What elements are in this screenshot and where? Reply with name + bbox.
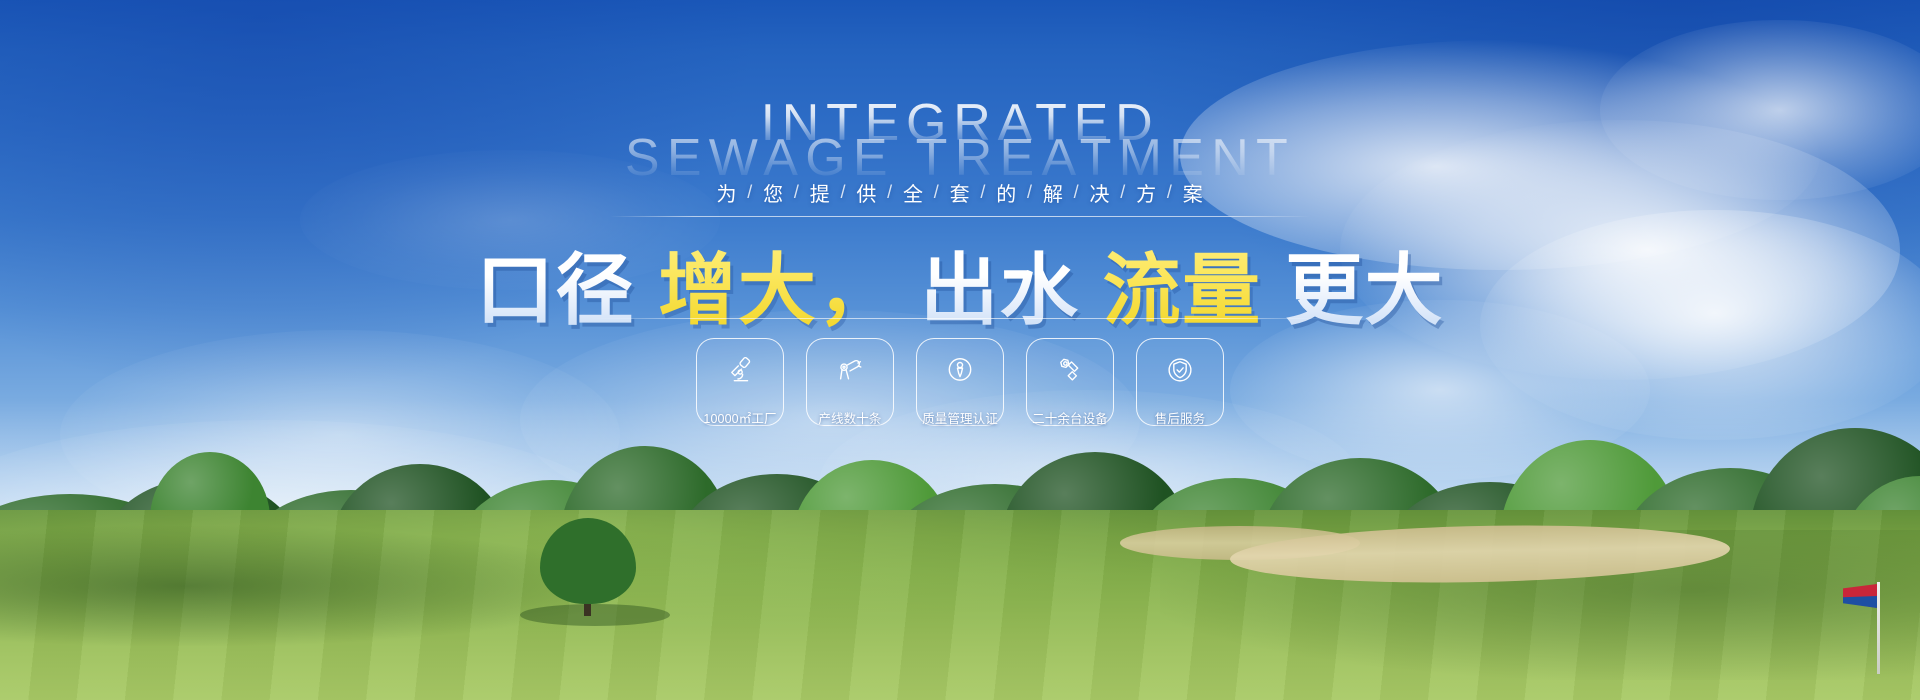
award-medal-icon xyxy=(945,355,975,385)
subtitle-char: 解 xyxy=(1033,178,1074,207)
shield-check-icon xyxy=(1165,355,1195,385)
feature-badge-quality-certification[interactable]: 质量管理认证 xyxy=(916,338,1004,426)
feature-badge-label: 10000㎡工厂 xyxy=(703,408,776,427)
headline-divider xyxy=(590,318,1330,319)
subtitle-char: 的 xyxy=(986,178,1027,207)
subtitle-char: 决 xyxy=(1079,178,1120,207)
subtitle-char: 案 xyxy=(1173,178,1214,207)
feature-badge-equipment[interactable]: 二十余台设备 xyxy=(1026,338,1114,426)
feature-badge-label: 质量管理认证 xyxy=(922,408,998,427)
bolt-nut-icon xyxy=(1055,355,1085,385)
feature-badge-label: 二十余台设备 xyxy=(1032,408,1108,427)
feature-badge-factory[interactable]: 10000㎡工厂 xyxy=(696,338,784,426)
hero-banner: INTEGRATED SEWAGE TREATMENT 为 / 您 / 提 / … xyxy=(0,0,1920,700)
feature-badge-label: 售后服务 xyxy=(1155,408,1206,427)
subtitle-char: 您 xyxy=(753,178,794,207)
subtitle-char: 套 xyxy=(940,178,981,207)
english-headline-line-2: SEWAGE TREATMENT xyxy=(0,134,1920,184)
subtitle-char: 全 xyxy=(893,178,934,207)
subtitle-block: 为 / 您 / 提 / 供 / 全 / 套 / 的 / 解 / 决 / 方 / xyxy=(0,178,1920,217)
subtitle-char: 供 xyxy=(846,178,887,207)
subtitle-divider xyxy=(610,216,1310,217)
feature-badge-after-sales[interactable]: 售后服务 xyxy=(1136,338,1224,426)
headline-segment: 增大， xyxy=(658,228,897,340)
page-title: 口径 增大， 出水 流量 更大 xyxy=(0,228,1920,340)
headline-segment: 流量 xyxy=(1103,228,1262,340)
headline-segment: 出水 xyxy=(920,228,1079,340)
subtitle-char: 为 xyxy=(706,178,747,207)
feature-badge-label: 产线数十条 xyxy=(818,408,881,427)
wrench-gear-icon xyxy=(835,355,865,385)
subtitle-char: 提 xyxy=(800,178,841,207)
feature-badge-list: 10000㎡工厂 产线数十条 xyxy=(696,338,1224,426)
feature-badge-production-lines[interactable]: 产线数十条 xyxy=(806,338,894,426)
microscope-icon xyxy=(725,355,755,385)
headline-segment: 口径 xyxy=(476,228,635,340)
banner-content: INTEGRATED SEWAGE TREATMENT 为 / 您 / 提 / … xyxy=(0,0,1920,700)
headline-segment: 更大 xyxy=(1285,228,1444,340)
subtitle-line: 为 / 您 / 提 / 供 / 全 / 套 / 的 / 解 / 决 / 方 / xyxy=(706,178,1213,207)
subtitle-char: 方 xyxy=(1126,178,1167,207)
